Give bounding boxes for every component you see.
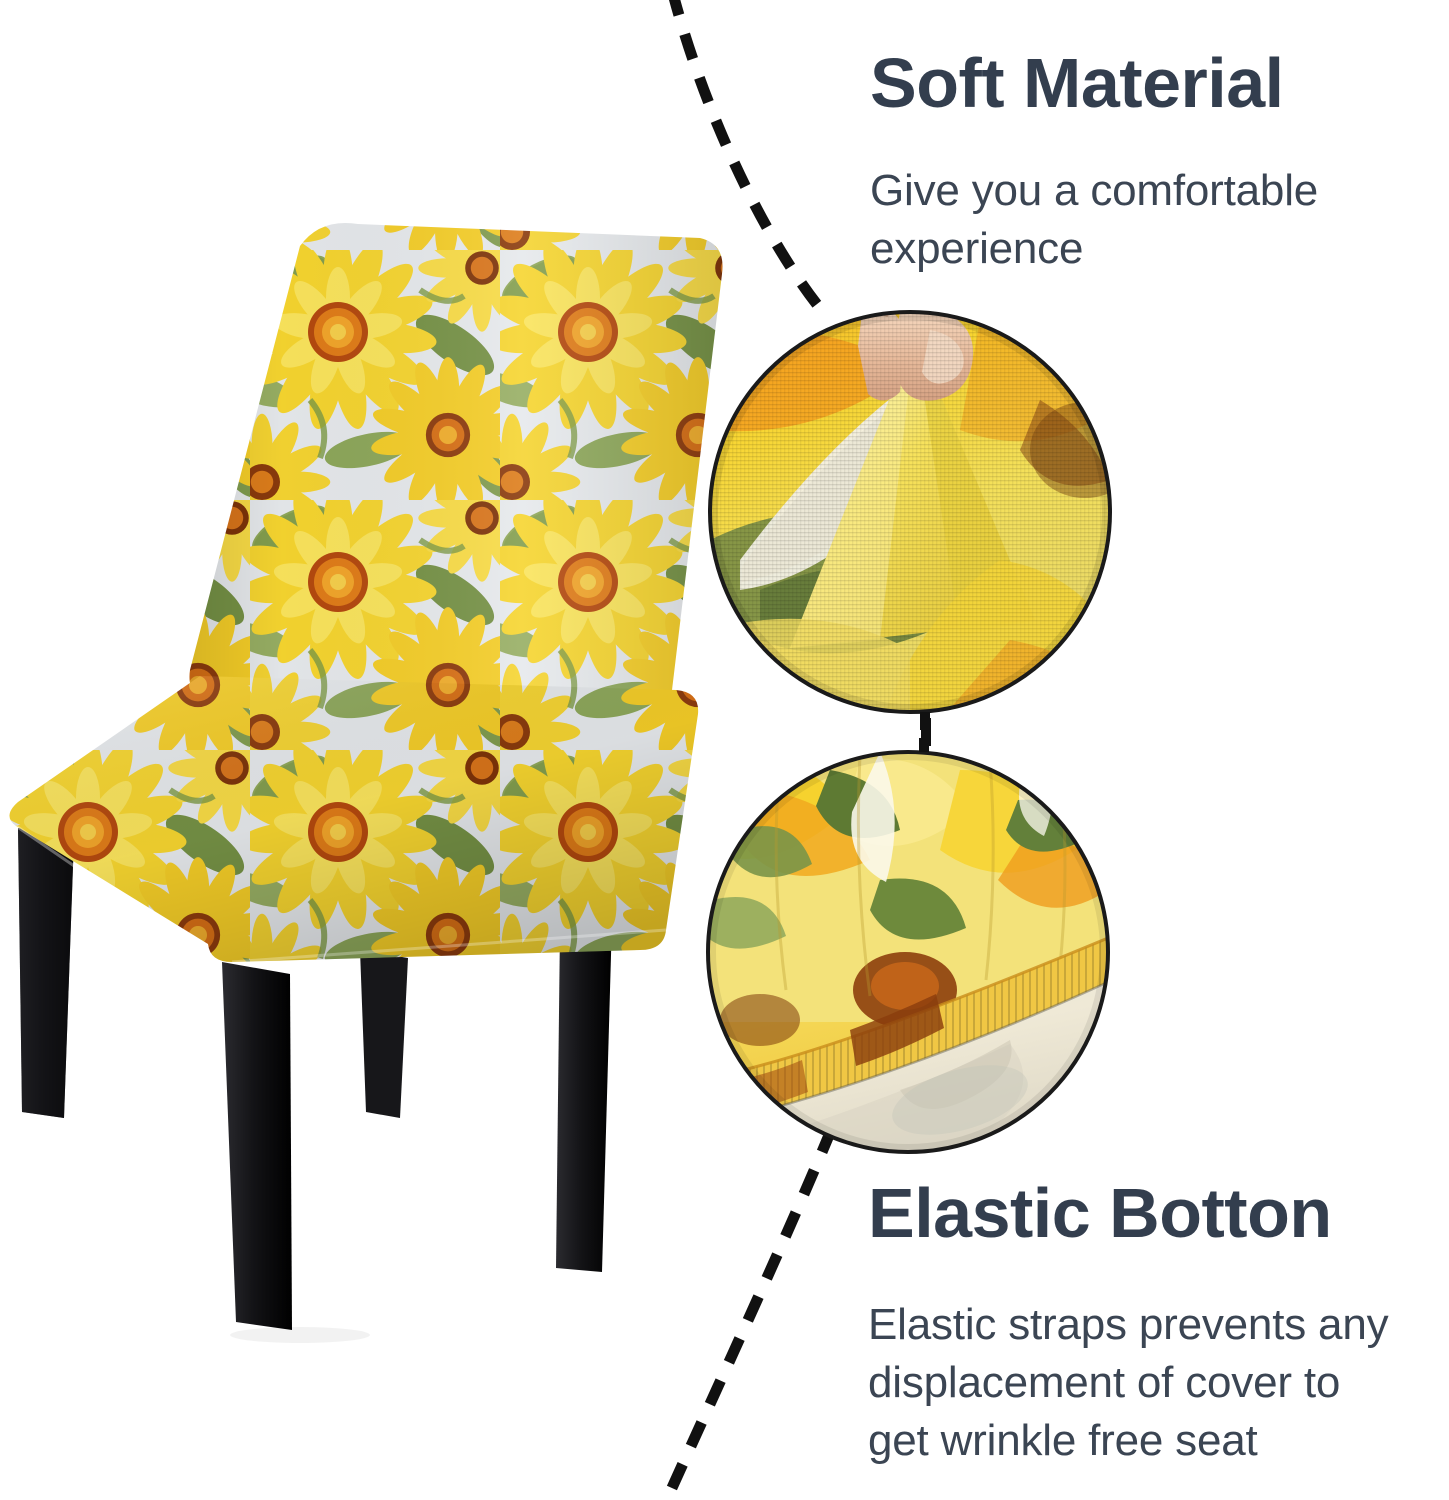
soft-material-headline: Soft Material [870, 48, 1318, 118]
chair-seat [0, 650, 760, 980]
infographic-canvas: Soft Material Give you a comfortable exp… [0, 0, 1449, 1500]
elastic-botton-body: Elastic straps prevents any displacement… [868, 1296, 1388, 1470]
soft-material-text-block: Soft Material Give you a comfortable exp… [870, 48, 1318, 278]
soft-material-body-line-2: experience [870, 220, 1318, 278]
elastic-botton-headline: Elastic Botton [868, 1178, 1388, 1248]
soft-material-body: Give you a comfortable experience [870, 162, 1318, 278]
elastic-botton-text-block: Elastic Botton Elastic straps prevents a… [868, 1178, 1388, 1470]
chair-legs [18, 828, 612, 1330]
elastic-botton-body-line-1: Elastic straps prevents any [868, 1296, 1388, 1354]
elastic-botton-body-line-2: displacement of cover to [868, 1354, 1388, 1412]
chair-back [150, 200, 750, 740]
soft-material-body-line-1: Give you a comfortable [870, 162, 1318, 220]
elastic-botton-body-line-3: get wrinkle free seat [868, 1412, 1388, 1470]
